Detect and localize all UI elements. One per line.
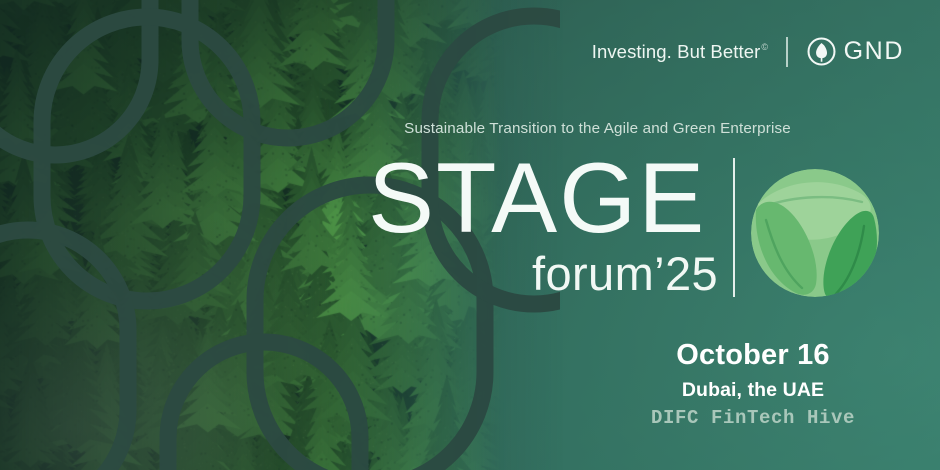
event-date: October 16 bbox=[608, 339, 898, 372]
tagline-text: Investing. But Better bbox=[592, 41, 761, 62]
event-banner: Investing. But Better© GND Sustainable T… bbox=[0, 0, 940, 470]
hero-divider bbox=[733, 158, 735, 297]
gnd-wordmark: GND bbox=[844, 37, 904, 66]
event-info: October 16 Dubai, the UAE DIFC FinTech H… bbox=[608, 339, 898, 430]
event-location: Dubai, the UAE bbox=[608, 379, 898, 401]
header-divider bbox=[786, 37, 788, 67]
event-venue: DIFC FinTech Hive bbox=[608, 408, 898, 430]
three-leaf-circle-icon bbox=[750, 168, 880, 298]
tagline: Investing. But Better© bbox=[592, 41, 768, 63]
hero-title: STAGE bbox=[368, 148, 706, 247]
hero-subtitle: Sustainable Transition to the Agile and … bbox=[370, 120, 825, 137]
hero-edition: forum’25 bbox=[532, 250, 718, 297]
banner-header: Investing. But Better© GND bbox=[592, 36, 904, 67]
copyright-icon: © bbox=[761, 42, 768, 52]
gnd-logo: GND bbox=[806, 36, 904, 67]
gnd-circle-tree-icon bbox=[806, 36, 837, 67]
